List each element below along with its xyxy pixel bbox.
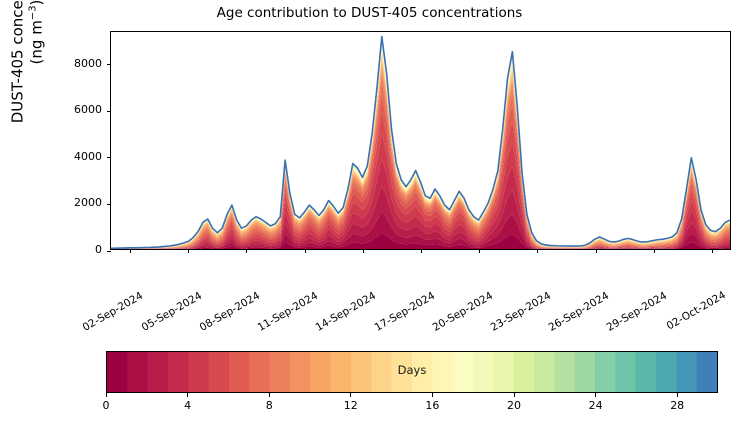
colorbar-band-28 [676, 352, 697, 392]
y-tick-label: 6000 [74, 103, 102, 116]
y-tick-label: 0 [95, 243, 102, 256]
colorbar-tick-label: 8 [249, 399, 289, 412]
colorbar-band-19 [493, 352, 514, 392]
colorbar-band-8 [270, 352, 291, 392]
colorbar-tick-label: 28 [657, 399, 697, 412]
colorbar-tick-mark [187, 393, 188, 397]
x-tick-mark [596, 249, 597, 253]
colorbar-band-9 [290, 352, 311, 392]
x-tick-mark [537, 249, 538, 253]
y-tick-label: 4000 [74, 150, 102, 163]
colorbar-tick-mark [432, 393, 433, 397]
x-tick-mark [130, 249, 131, 253]
colorbar-tick-label: 4 [168, 399, 208, 412]
colorbar-tick-mark [269, 393, 270, 397]
colorbar-band-6 [229, 352, 250, 392]
colorbar-band-1 [127, 352, 148, 392]
y-tick-mark [107, 157, 111, 158]
x-tick-mark [188, 249, 189, 253]
x-tick-mark [421, 249, 422, 253]
colorbar-band-27 [656, 352, 677, 392]
colorbar-band-12 [351, 352, 372, 392]
colorbar-tick-label: 0 [86, 399, 126, 412]
colorbar-band-24 [595, 352, 616, 392]
y-tick-mark [107, 111, 111, 112]
colorbar-band-22 [554, 352, 575, 392]
colorbar-tick-mark [350, 393, 351, 397]
x-tick-mark [712, 249, 713, 253]
colorbar-band-3 [168, 352, 189, 392]
y-axis-units-exponent: −3 [27, 5, 38, 20]
figure-canvas: Age contribution to DUST-405 concentrati… [0, 0, 739, 425]
plot-area: 02000400060008000 02-Sep-202405-Sep-2024… [110, 31, 731, 250]
colorbar-tick-mark [106, 393, 107, 397]
chart-title: Age contribution to DUST-405 concentrati… [0, 5, 739, 21]
colorbar-band-20 [514, 352, 535, 392]
colorbar-tick-label: 16 [412, 399, 452, 412]
colorbar-band-29 [697, 352, 717, 392]
colorbar-band-17 [453, 352, 474, 392]
colorbar-band-23 [575, 352, 596, 392]
colorbar-gradient [107, 352, 717, 392]
colorbar-band-11 [331, 352, 352, 392]
colorbar-tick-mark [514, 393, 515, 397]
colorbar-band-13 [371, 352, 392, 392]
colorbar-tick-label: 24 [576, 399, 616, 412]
colorbar-band-0 [107, 352, 128, 392]
y-axis-label-line1: DUST-405 concentration [8, 0, 26, 123]
colorbar-tick-label: 12 [331, 399, 371, 412]
x-tick-mark [246, 249, 247, 253]
colorbar-band-21 [534, 352, 555, 392]
colorbar-tick-mark [595, 393, 596, 397]
colorbar-tick-mark [677, 393, 678, 397]
x-tick-mark [363, 249, 364, 253]
x-tick-mark [305, 249, 306, 253]
colorbar-band-10 [310, 352, 331, 392]
y-tick-mark [107, 251, 111, 252]
colorbar-band-18 [473, 352, 494, 392]
colorbar-band-26 [636, 352, 657, 392]
y-tick-mark [107, 204, 111, 205]
colorbar-band-25 [615, 352, 636, 392]
y-axis-units-pre: (ng m [27, 20, 45, 64]
colorbar-band-16 [432, 352, 453, 392]
y-axis-label-line2: (ng m−3) [27, 0, 45, 123]
colorbar-band-5 [209, 352, 230, 392]
x-tick-mark [654, 249, 655, 253]
stacked-area-plot [111, 32, 730, 249]
colorbar-band-15 [412, 352, 433, 392]
colorbar-band-4 [188, 352, 209, 392]
colorbar-band-2 [148, 352, 169, 392]
colorbar-tick-label: 20 [494, 399, 534, 412]
y-axis-label: DUST-405 concentration (ng m−3) [15, 0, 39, 145]
y-axis-units-post: ) [27, 0, 45, 5]
colorbar-band-7 [249, 352, 270, 392]
y-tick-mark [107, 64, 111, 65]
colorbar-band-14 [392, 352, 413, 392]
stacked-area-layers [111, 37, 730, 249]
x-tick-mark [479, 249, 480, 253]
y-tick-label: 2000 [74, 196, 102, 209]
colorbar[interactable] [106, 351, 718, 393]
y-tick-label: 8000 [74, 57, 102, 70]
